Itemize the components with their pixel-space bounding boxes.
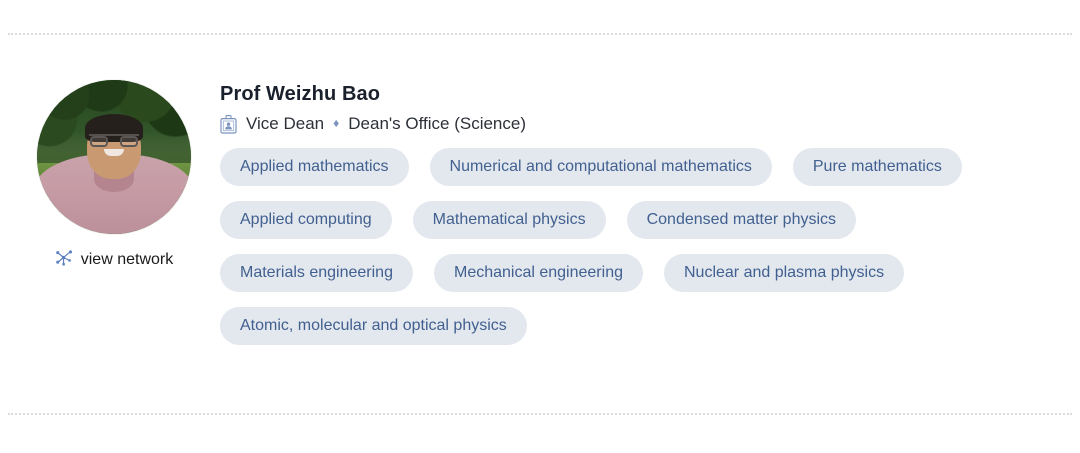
divider-bottom [8,413,1072,415]
topic-tag[interactable]: Pure mathematics [793,148,962,186]
tag-row: Applied mathematics Numerical and comput… [220,148,1060,186]
topic-tag[interactable]: Mechanical engineering [434,254,643,292]
network-graph-icon [55,248,74,272]
role-separator-icon: ♦ [333,117,339,129]
page-title: Prof Weizhu Bao [220,82,1060,106]
researcher-profile-card: view network Prof Weizhu Bao Vice Dean ♦… [0,0,1080,453]
topic-tag[interactable]: Atomic, molecular and optical physics [220,307,527,345]
view-network-link[interactable]: view network [55,248,173,272]
role-title: Vice Dean [246,114,324,134]
tag-row: Applied computing Mathematical physics C… [220,201,1060,239]
department-name: Dean's Office (Science) [348,114,526,134]
tag-row: Atomic, molecular and optical physics [220,307,1060,345]
profile-right-column: Prof Weizhu Bao Vice Dean ♦ Dean's Offic… [220,82,1060,360]
topic-tag[interactable]: Mathematical physics [413,201,606,239]
research-topic-tags: Applied mathematics Numerical and comput… [220,148,1060,345]
tag-row: Materials engineering Mechanical enginee… [220,254,1060,292]
role-line: Vice Dean ♦ Dean's Office (Science) [220,114,1060,134]
topic-tag[interactable]: Condensed matter physics [627,201,856,239]
avatar [37,80,191,234]
avatar-photo-glasses [89,134,139,146]
topic-tag[interactable]: Applied computing [220,201,392,239]
topic-tag[interactable]: Numerical and computational mathematics [430,148,772,186]
profile-left-column: view network [37,80,191,272]
topic-tag[interactable]: Materials engineering [220,254,413,292]
id-badge-icon [220,115,237,134]
divider-top [8,33,1072,35]
topic-tag[interactable]: Nuclear and plasma physics [664,254,904,292]
topic-tag[interactable]: Applied mathematics [220,148,409,186]
view-network-label: view network [81,252,173,268]
